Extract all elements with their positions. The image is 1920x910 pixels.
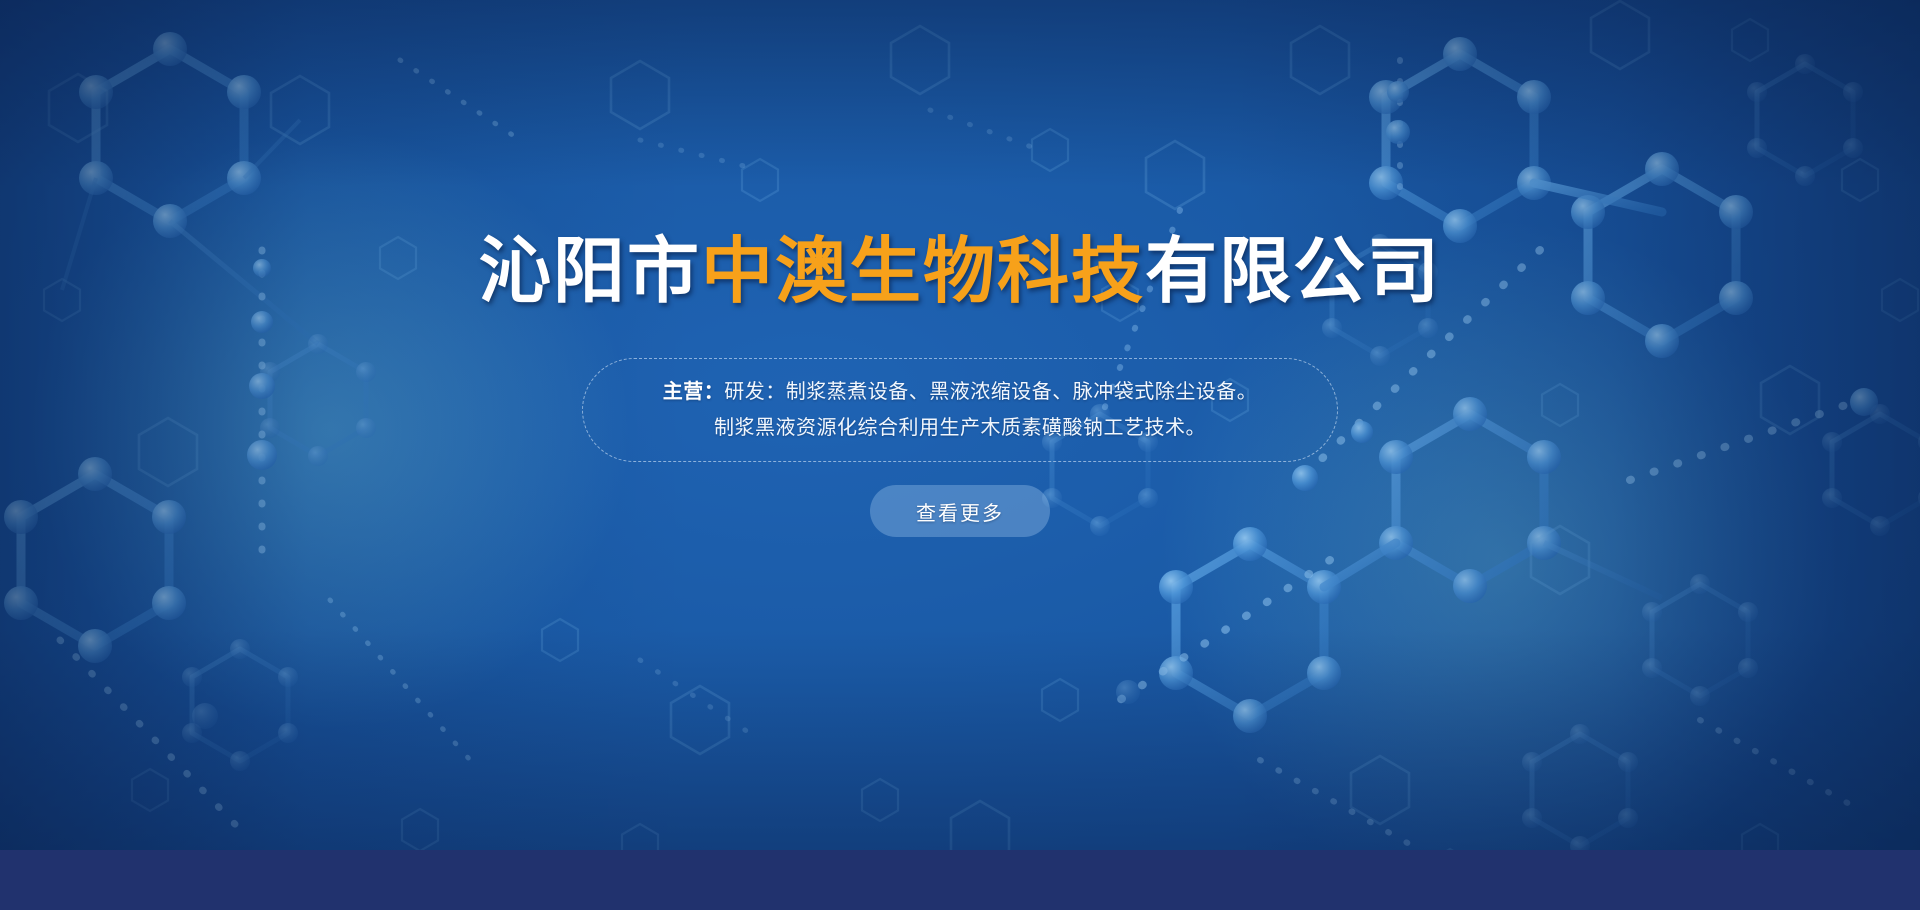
business-scope-line-1-text: 研发：制浆蒸煮设备、黑液浓缩设备、脉冲袋式除尘设备。	[724, 381, 1257, 403]
page-title-accent: 中澳生物科技	[701, 232, 1145, 312]
business-scope-line-1: 主营：研发：制浆蒸煮设备、黑液浓缩设备、脉冲袋式除尘设备。	[663, 377, 1258, 407]
page-title: 沁阳市中澳生物科技有限公司	[479, 236, 1441, 308]
page-title-prefix: 沁阳市	[479, 232, 701, 312]
business-scope-line-2: 制浆黑液资源化综合利用生产木质素磺酸钠工艺技术。	[714, 413, 1206, 443]
bottom-navy-strip	[0, 850, 1920, 910]
business-scope-box: 主营：研发：制浆蒸煮设备、黑液浓缩设备、脉冲袋式除尘设备。 制浆黑液资源化综合利…	[582, 358, 1338, 462]
business-scope-label: 主营：	[663, 381, 725, 403]
hero-content: 沁阳市中澳生物科技有限公司 主营：研发：制浆蒸煮设备、黑液浓缩设备、脉冲袋式除尘…	[0, 0, 1920, 850]
hero-banner-page: 沁阳市中澳生物科技有限公司 主营：研发：制浆蒸煮设备、黑液浓缩设备、脉冲袋式除尘…	[0, 0, 1920, 910]
page-title-suffix: 有限公司	[1145, 232, 1441, 312]
view-more-button[interactable]: 查看更多	[870, 485, 1050, 537]
